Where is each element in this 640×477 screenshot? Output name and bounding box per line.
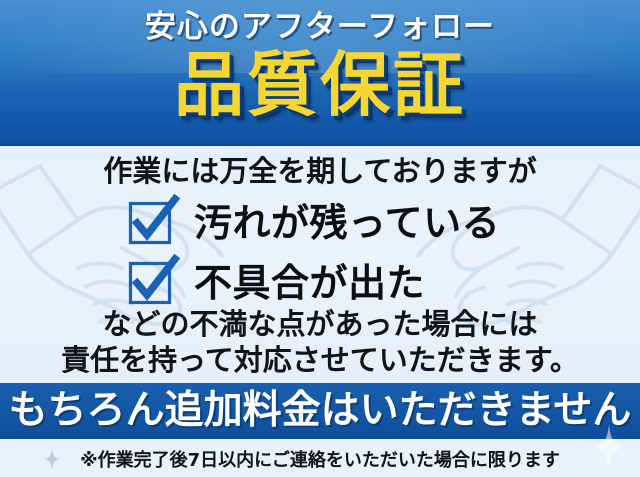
issue-checklist: 汚れが残っている 不具合が出た	[0, 194, 640, 312]
quality-guarantee-banner: 安心のアフターフォロー 品質保証	[0, 0, 640, 477]
header-kicker-text: 安心のアフターフォロー	[0, 11, 640, 44]
body-lead-text: 作業には万全を期しておりますが	[0, 156, 640, 188]
body-tail-text-line-2: 責任を持って対応させていただきます。	[0, 345, 640, 377]
banner-body: 作業には万全を期しておりますが 汚れが残っている	[0, 146, 640, 383]
footnote-panel: ※作業完了後7日以内にご連絡をいただいた場合に限ります	[0, 439, 640, 477]
checkbox-checked-icon	[128, 261, 172, 305]
checklist-item: 汚れが残っている	[0, 194, 640, 252]
promise-bar-text: もちろん追加料金はいただきません	[0, 388, 640, 435]
footnote-text: ※作業完了後7日以内にご連絡をいただいた場合に限ります	[0, 446, 640, 472]
checklist-item-label: 不具合が出た	[194, 264, 425, 302]
body-tail-text-line-1: などの不満な点があった場合には	[0, 309, 640, 341]
promise-bar: もちろん追加料金はいただきません	[0, 383, 640, 439]
header-headline-text: 品質保証	[0, 50, 640, 120]
checkbox-checked-icon	[128, 201, 172, 245]
checklist-item-label: 汚れが残っている	[194, 204, 500, 242]
banner-header: 安心のアフターフォロー 品質保証	[0, 0, 640, 146]
checklist-item: 不具合が出た	[0, 254, 640, 312]
